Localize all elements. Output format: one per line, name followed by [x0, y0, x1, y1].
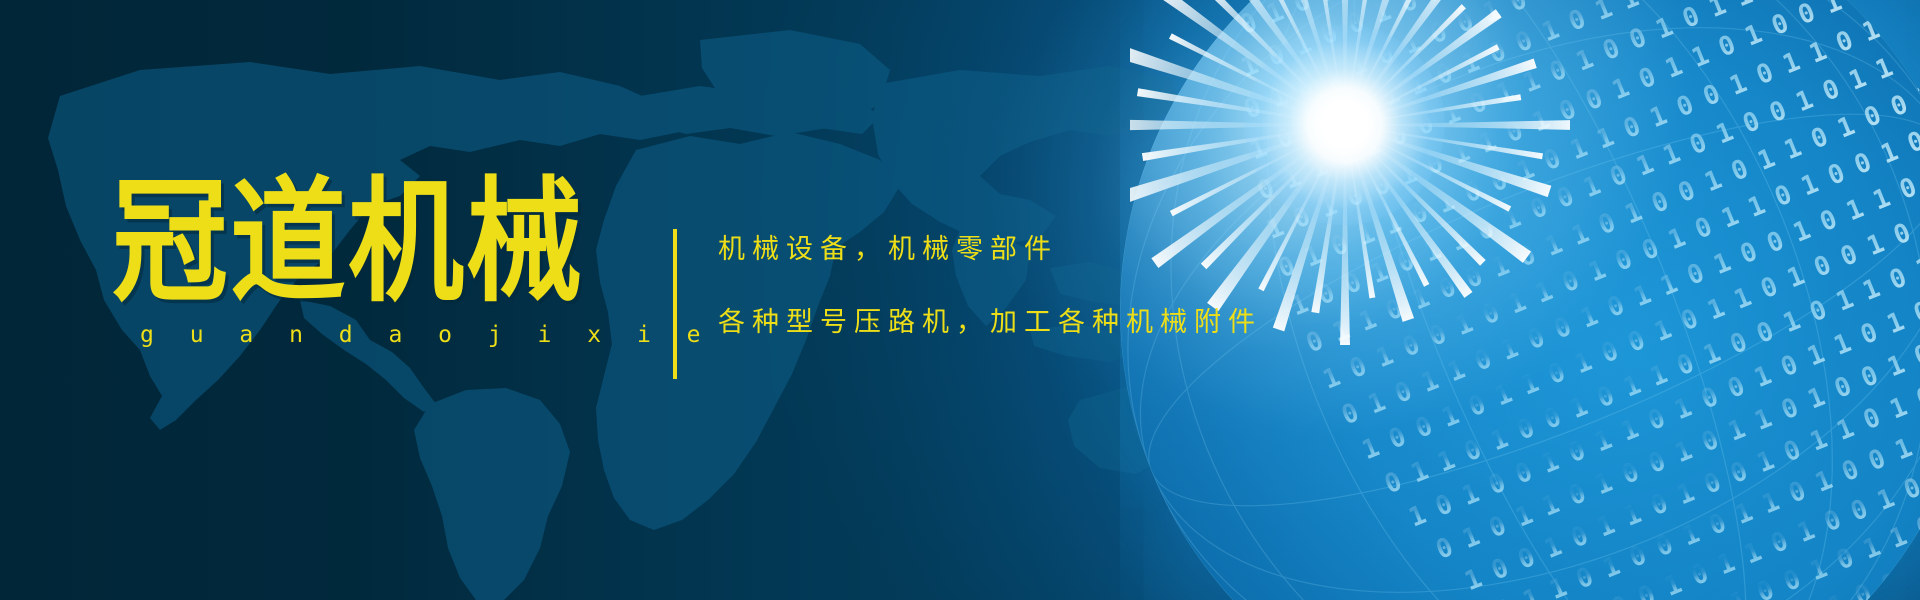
hero-banner: 010110100101101001011010 101001011010010… [0, 0, 1920, 600]
tagline-line-1: 机械设备，机械零部件 [718, 236, 1478, 263]
tagline-line-2: 各种型号压路机，加工各种机械附件 [718, 309, 1478, 336]
banner-content: 冠道机械 g u a n d a o j i x i e 机械设备，机械零部件 … [0, 0, 1920, 600]
tagline-group: 机械设备，机械零部件 各种型号压路机，加工各种机械附件 [718, 236, 1478, 336]
company-name-pinyin: g u a n d a o j i x i e [112, 322, 532, 348]
company-name-cn: 冠道机械 [112, 176, 532, 311]
brand-logo: 冠道机械 g u a n d a o j i x i e [112, 176, 532, 348]
vertical-divider [673, 229, 677, 379]
